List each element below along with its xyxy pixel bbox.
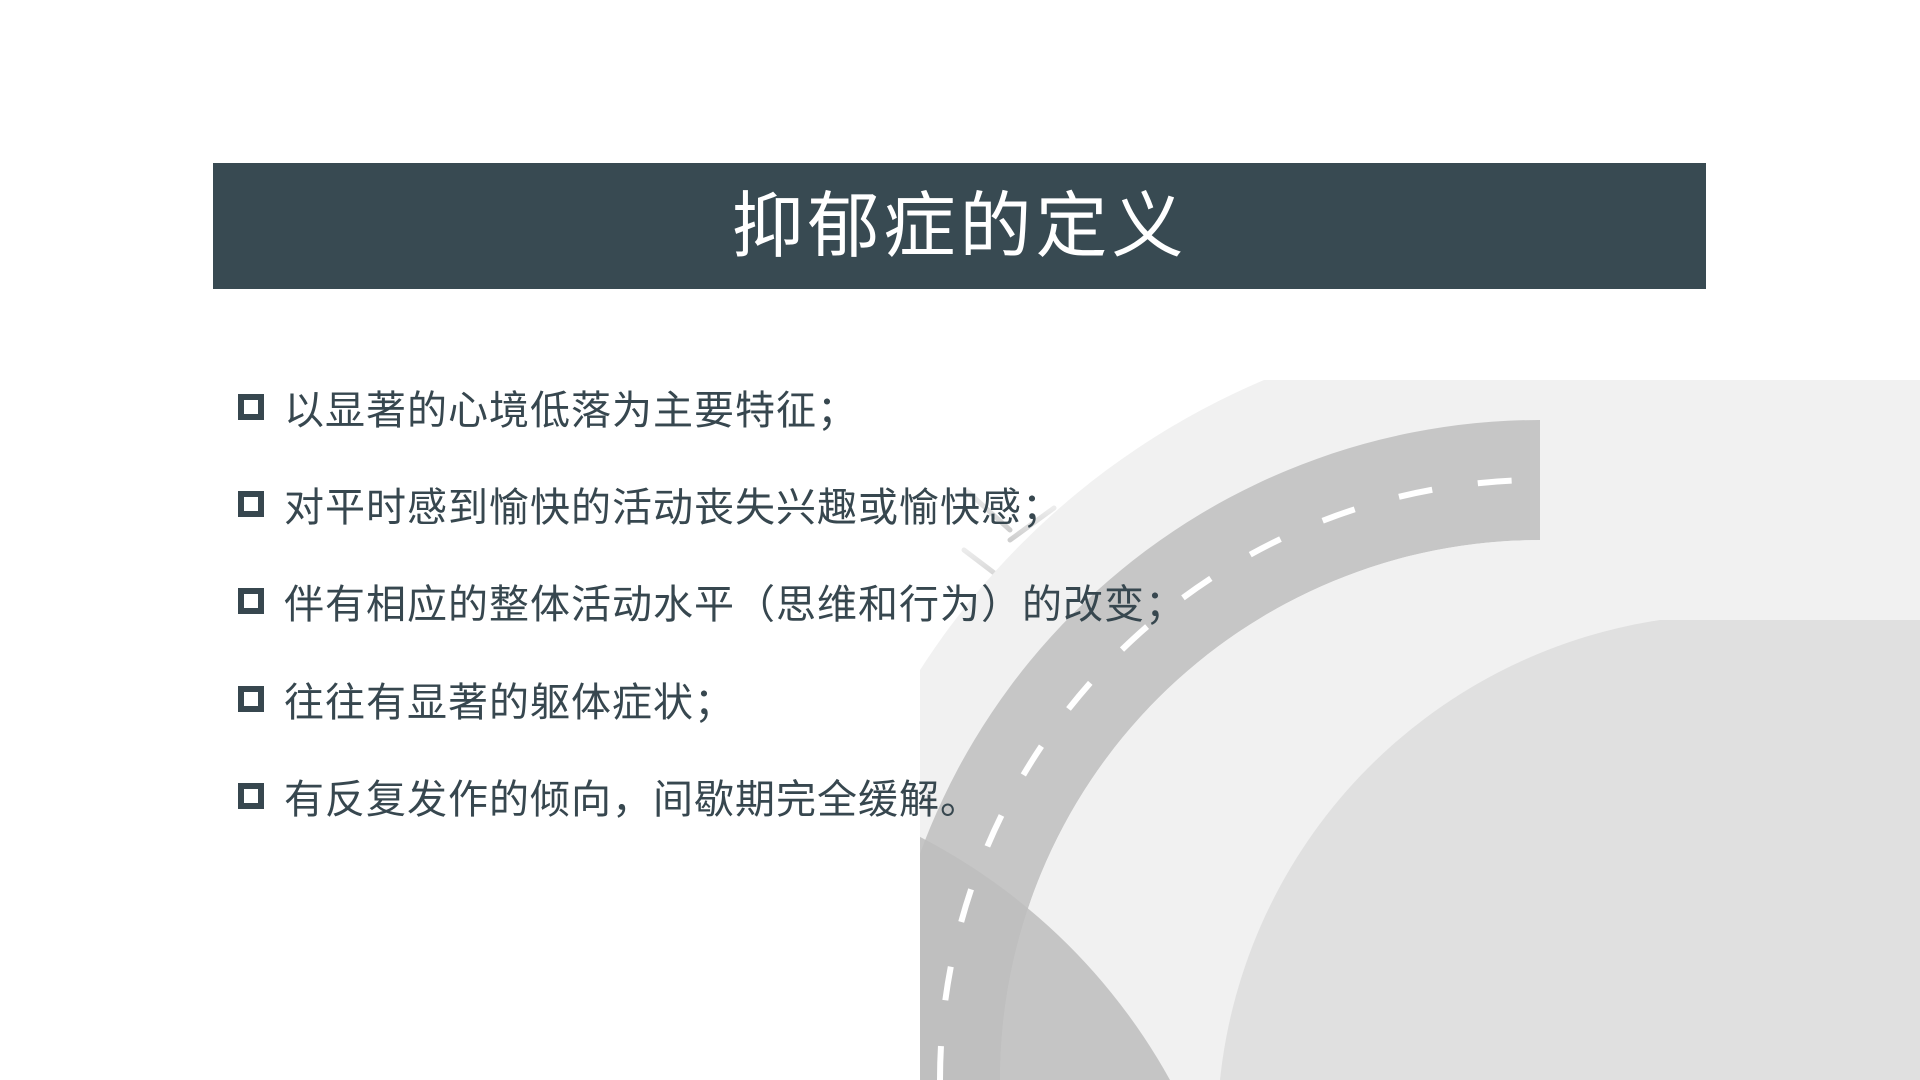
page-title: 抑郁症的定义 (731, 190, 1187, 262)
road-shadow-wedge-2 (920, 810, 1170, 1080)
list-item: 以显著的心境低落为主要特征； (238, 388, 1438, 435)
hollow-square-bullet-icon (238, 686, 264, 712)
list-item-text: 以显著的心境低落为主要特征； (284, 388, 858, 435)
slide: 抑郁症的定义 以显著的心境低落为主要特征； 对平时感到愉快的活动丧失兴趣或愉快感… (0, 0, 1920, 1080)
list-item: 伴有相应的整体活动水平（思维和行为）的改变； (238, 582, 1438, 629)
title-banner: 抑郁症的定义 (213, 163, 1706, 289)
list-item: 往往有显著的躯体症状； (238, 680, 1438, 727)
list-item-text: 伴有相应的整体活动水平（思维和行为）的改变； (284, 582, 1186, 629)
list-item: 对平时感到愉快的活动丧失兴趣或愉快感； (238, 485, 1438, 532)
list-item-text: 对平时感到愉快的活动丧失兴趣或愉快感； (284, 485, 1063, 532)
list-item-text: 有反复发作的倾向，间歇期完全缓解。 (284, 777, 981, 824)
sun-disc (1726, 380, 1846, 485)
list-item: 有反复发作的倾向，间歇期完全缓解。 (238, 777, 1438, 824)
hollow-square-bullet-icon (238, 394, 264, 420)
hollow-square-bullet-icon (238, 783, 264, 809)
hollow-square-bullet-icon (238, 491, 264, 517)
list-item-text: 往往有显著的躯体症状； (284, 680, 735, 727)
hollow-square-bullet-icon (238, 588, 264, 614)
bullet-list: 以显著的心境低落为主要特征； 对平时感到愉快的活动丧失兴趣或愉快感； 伴有相应的… (238, 388, 1438, 824)
